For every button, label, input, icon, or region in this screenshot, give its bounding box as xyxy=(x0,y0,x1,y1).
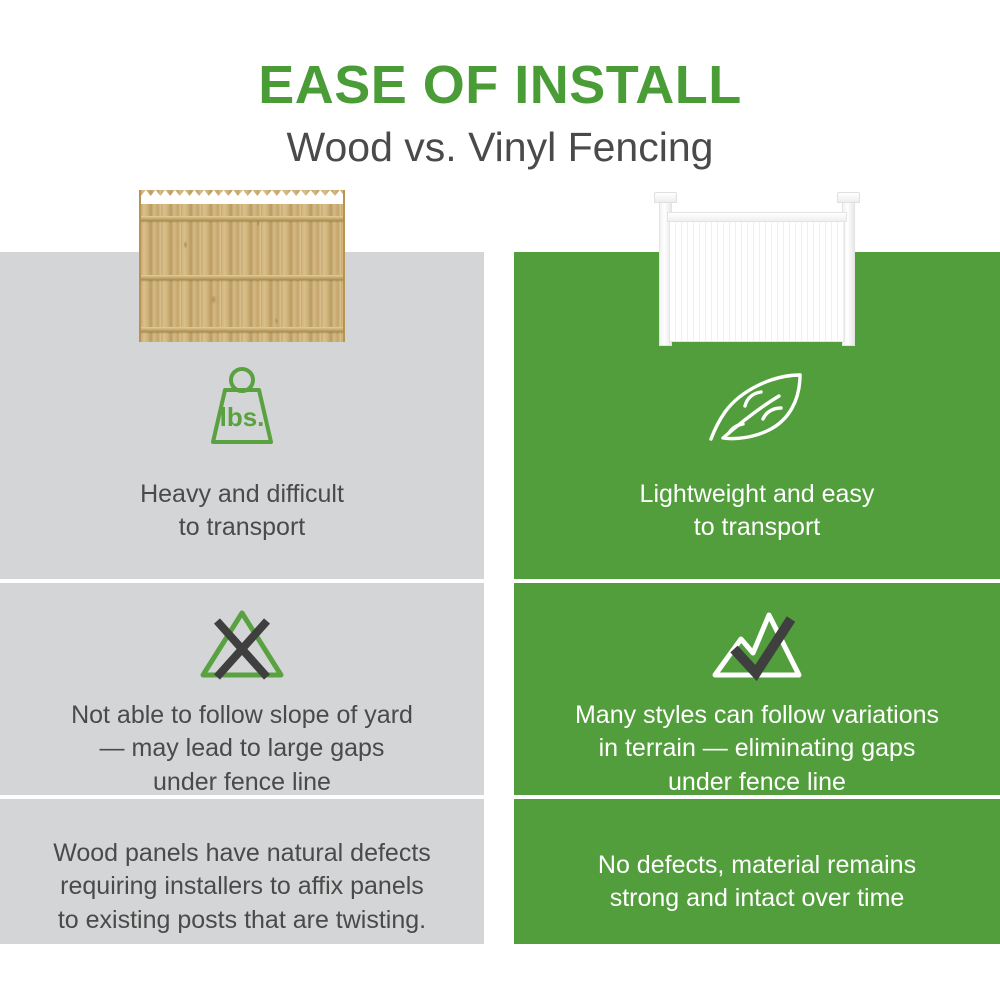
caption-line: under fence line xyxy=(575,766,939,799)
vinyl-panel-row-3: No defects, material remains strong and … xyxy=(514,799,1000,944)
caption-line: under fence line xyxy=(71,766,413,799)
column-wood: lbs. Heavy and difficult to transport xyxy=(0,252,484,944)
caption-line: Not able to follow slope of yard xyxy=(71,699,413,732)
caption-line: Heavy and difficult xyxy=(140,478,344,511)
wood-panel-row-3: Wood panels have natural defects requiri… xyxy=(0,799,484,944)
caption-line: — may lead to large gaps xyxy=(71,732,413,765)
caption-line: strong and intact over time xyxy=(598,882,916,915)
infographic-root: EASE OF INSTALL Wood vs. Vinyl Fencing xyxy=(0,0,1000,1000)
caption-line: to transport xyxy=(140,511,344,544)
vinyl-panel-row-1: Lightweight and easy to transport xyxy=(514,252,1000,579)
vinyl-fence-image xyxy=(657,192,857,346)
header: EASE OF INSTALL Wood vs. Vinyl Fencing xyxy=(0,0,1000,169)
page-subtitle: Wood vs. Vinyl Fencing xyxy=(0,126,1000,169)
caption-line: Lightweight and easy xyxy=(640,478,875,511)
caption-line: to transport xyxy=(640,511,875,544)
wood-panel-row-1: lbs. Heavy and difficult to transport xyxy=(0,252,484,579)
page-title: EASE OF INSTALL xyxy=(0,58,1000,112)
wood-fence-image xyxy=(139,190,345,342)
feather-icon xyxy=(703,364,811,452)
caption-line: No defects, material remains xyxy=(598,849,916,882)
wood-caption-1: Heavy and difficult to transport xyxy=(140,478,344,545)
caption-line: Many styles can follow variations xyxy=(575,699,939,732)
column-vinyl: Lightweight and easy to transport Many s… xyxy=(514,252,1000,944)
wood-caption-2: Not able to follow slope of yard — may l… xyxy=(71,699,413,799)
caption-line: requiring installers to affix panels xyxy=(53,870,431,903)
wood-panel-row-2: Not able to follow slope of yard — may l… xyxy=(0,583,484,795)
caption-line: to existing posts that are twisting. xyxy=(53,904,431,937)
mountain-check-icon xyxy=(707,605,807,683)
vinyl-caption-3: No defects, material remains strong and … xyxy=(598,849,916,916)
vinyl-panel-row-2: Many styles can follow variations in ter… xyxy=(514,583,1000,795)
comparison-columns: lbs. Heavy and difficult to transport xyxy=(0,252,1000,944)
triangle-x-slope-icon xyxy=(195,605,289,683)
caption-line: in terrain — eliminating gaps xyxy=(575,732,939,765)
vinyl-caption-2: Many styles can follow variations in ter… xyxy=(575,699,939,799)
svg-text:lbs.: lbs. xyxy=(220,402,265,432)
vinyl-caption-1: Lightweight and easy to transport xyxy=(640,478,875,545)
wood-caption-3: Wood panels have natural defects requiri… xyxy=(53,837,431,937)
caption-line: Wood panels have natural defects xyxy=(53,837,431,870)
weight-lbs-icon: lbs. xyxy=(199,364,285,452)
